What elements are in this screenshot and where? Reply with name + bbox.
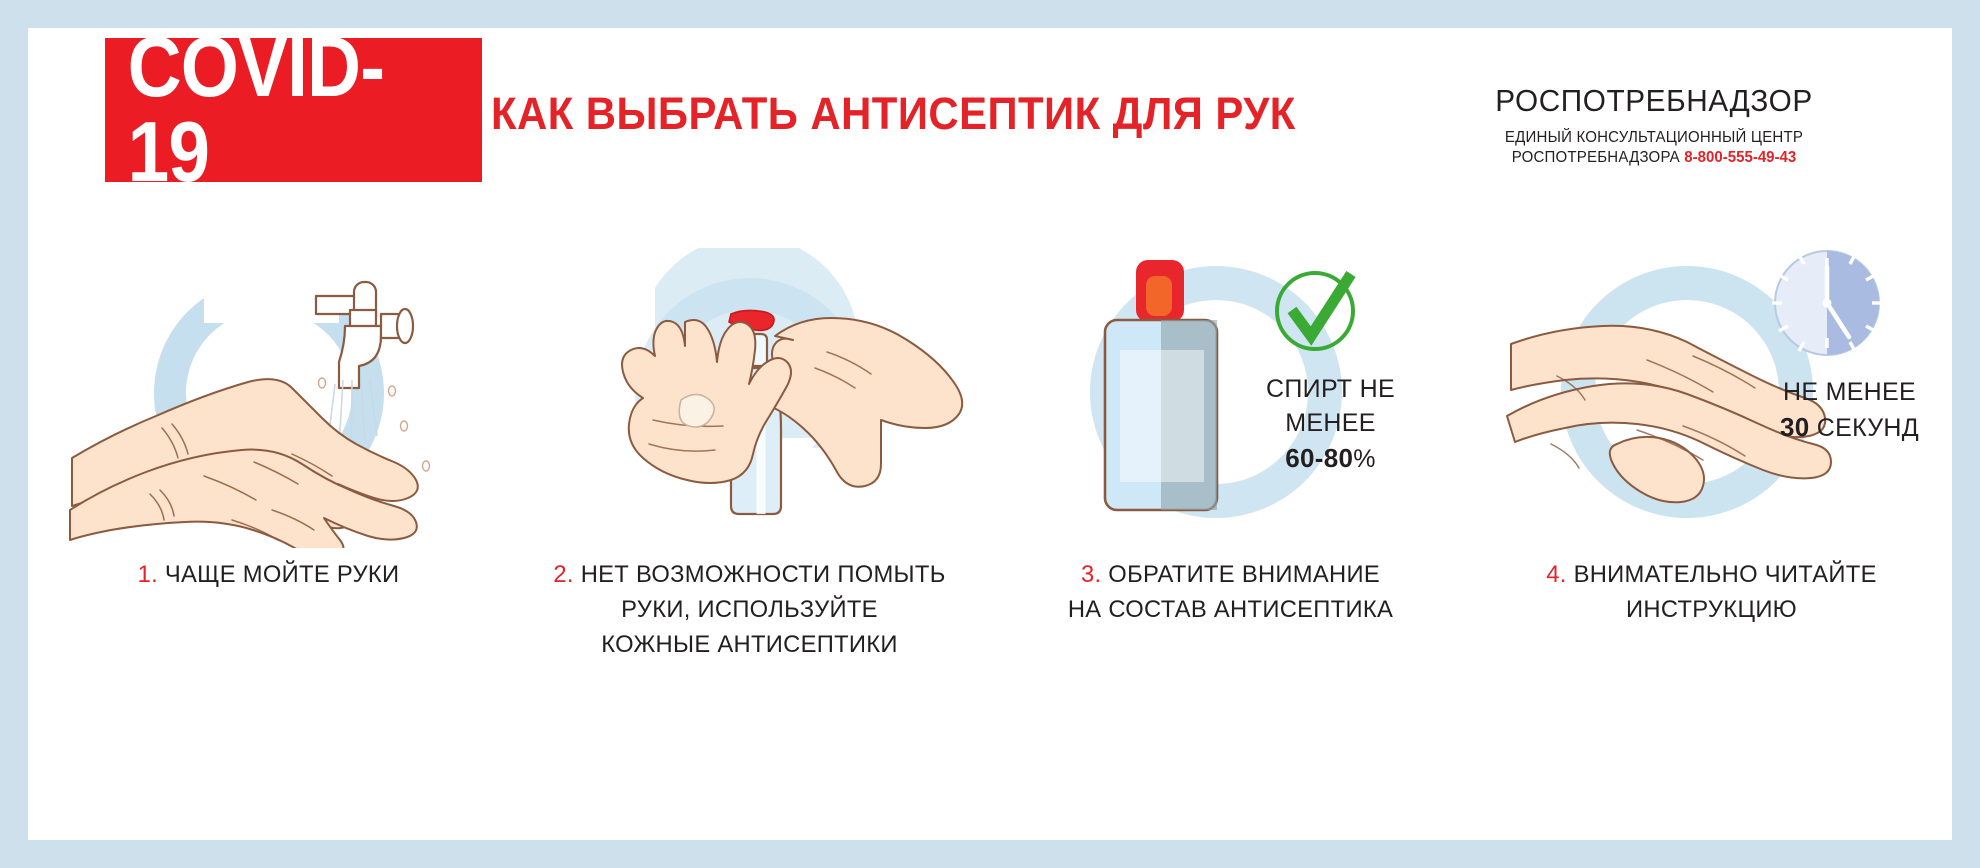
step-1-caption: 1. ЧАЩЕ МОЙТЕ РУКИ: [35, 558, 502, 593]
duration-note-value-row: 30 СЕКУНД: [1765, 410, 1935, 446]
step-3: СПИРТ НЕ МЕНЕЕ 60-80% 3. ОБРАТИТЕ ВНИМАН…: [990, 228, 1471, 748]
step-4: НЕ МЕНЕЕ 30 СЕКУНД 4. ВНИМАТЕЛЬНО ЧИТАЙТ…: [1471, 228, 1952, 748]
clock-icon: [1772, 251, 1882, 355]
hotline-org-label: РОСПОТРЕБНАДЗОРА: [1512, 149, 1680, 166]
step-3-line-2: НА СОСТАВ АНТИСЕПТИКА: [1068, 596, 1393, 623]
step-1: 1. ЧАЩЕ МОЙТЕ РУКИ: [28, 228, 509, 748]
step-3-line-1: ОБРАТИТЕ ВНИМАНИЕ: [1108, 561, 1380, 588]
hotline-line-2: РОСПОТРЕБНАДЗОРА 8-800-555-49-43: [1460, 148, 1848, 168]
duration-note-unit: СЕКУНД: [1810, 414, 1920, 442]
step-2-number: 2.: [553, 561, 573, 588]
alcohol-note-value-row: 60-80%: [1231, 441, 1431, 477]
step-2-line-1: НЕТ ВОЗМОЖНОСТИ ПОМЫТЬ: [581, 561, 946, 588]
covid-19-badge-label: COVID-19: [128, 25, 460, 195]
step-3-number: 3.: [1081, 561, 1101, 588]
hand-pumping-sanitizer-illustration: [535, 248, 965, 548]
poster: COVID-19 КАК ВЫБРАТЬ АНТИСЕПТИК ДЛЯ РУК …: [28, 28, 1952, 840]
sanitizer-bottle-body: [1105, 320, 1217, 510]
step-2: 2. НЕТ ВОЗМОЖНОСТИ ПОМЫТЬ РУКИ, ИСПОЛЬЗУ…: [509, 228, 990, 748]
covid-19-badge: COVID-19: [105, 38, 482, 182]
step-4-line-1: ВНИМАТЕЛЬНО ЧИТАЙТЕ: [1574, 561, 1877, 588]
step-4-number: 4.: [1546, 561, 1566, 588]
alcohol-note-value: 60-80: [1285, 443, 1353, 473]
duration-note: НЕ МЕНЕЕ 30 СЕКУНД: [1765, 376, 1935, 446]
sanitizer-bottle-with-checkmark-illustration: СПИРТ НЕ МЕНЕЕ 60-80%: [1016, 248, 1446, 548]
duration-note-value: 30: [1780, 412, 1810, 442]
step-3-caption: 3. ОБРАТИТЕ ВНИМАНИЕ НА СОСТАВ АНТИСЕПТИ…: [997, 558, 1464, 628]
alcohol-note-line-1: СПИРТ НЕ МЕНЕЕ: [1231, 373, 1431, 441]
hands-washing-under-tap-illustration: [54, 248, 484, 548]
step-1-line-1: ЧАЩЕ МОЙТЕ РУКИ: [165, 561, 399, 588]
step-2-line-2: РУКИ, ИСПОЛЬЗУЙТЕ: [621, 596, 878, 623]
step-2-caption: 2. НЕТ ВОЗМОЖНОСТИ ПОМЫТЬ РУКИ, ИСПОЛЬЗУ…: [516, 558, 983, 662]
duration-note-line-1: НЕ МЕНЕЕ: [1765, 376, 1935, 410]
hands-rubbing-with-clock-illustration: НЕ МЕНЕЕ 30 СЕКУНД: [1497, 248, 1927, 548]
step-4-line-2: ИНСТРУКЦИЮ: [1626, 596, 1797, 623]
page-title: КАК ВЫБРАТЬ АНТИСЕПТИК ДЛЯ РУК: [491, 88, 1477, 140]
hotline-line-1: ЕДИНЫЙ КОНСУЛЬТАЦИОННЫЙ ЦЕНТР: [1460, 128, 1848, 148]
header: COVID-19 КАК ВЫБРАТЬ АНТИСЕПТИК ДЛЯ РУК …: [28, 28, 1952, 218]
step-1-number: 1.: [138, 561, 158, 588]
rospotrebnadzor-block: РОСПОТРЕБНАДЗОР ЕДИНЫЙ КОНСУЛЬТАЦИОННЫЙ …: [1454, 83, 1854, 169]
bottle-cap: [1136, 260, 1184, 322]
hotline-info: ЕДИНЫЙ КОНСУЛЬТАЦИОННЫЙ ЦЕНТР РОСПОТРЕБН…: [1460, 128, 1848, 169]
organization-name: РОСПОТРЕБНАДЗОР: [1462, 83, 1846, 119]
step-4-caption: 4. ВНИМАТЕЛЬНО ЧИТАЙТЕ ИНСТРУКЦИЮ: [1478, 558, 1945, 628]
hotline-phone: 8-800-555-49-43: [1684, 149, 1796, 166]
alcohol-note-unit: %: [1353, 445, 1376, 473]
step-2-line-3: КОЖНЫЕ АНТИСЕПТИКИ: [601, 631, 898, 658]
steps-row: 1. ЧАЩЕ МОЙТЕ РУКИ: [28, 228, 1952, 748]
alcohol-percent-note: СПИРТ НЕ МЕНЕЕ 60-80%: [1231, 373, 1431, 476]
